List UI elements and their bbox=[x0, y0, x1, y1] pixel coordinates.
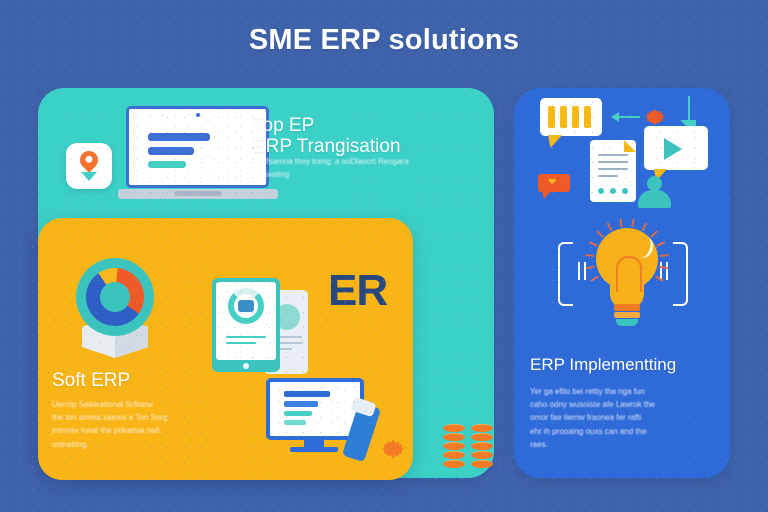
play-icon bbox=[664, 138, 682, 160]
laptop-screen bbox=[126, 106, 269, 188]
speech-bubble-tail bbox=[542, 191, 551, 199]
lightbulb-ray bbox=[589, 241, 598, 247]
lightbulb-base bbox=[614, 304, 640, 311]
er-logo-text: ER bbox=[328, 266, 387, 316]
coin bbox=[443, 424, 465, 432]
heart-icon: ❤ bbox=[548, 178, 556, 188]
document-text-line bbox=[598, 175, 618, 177]
lightbulb-base-tip bbox=[616, 319, 638, 326]
document-text-line bbox=[598, 161, 628, 163]
bracket-pipe bbox=[666, 262, 668, 280]
donut-hole bbox=[100, 282, 130, 312]
laptop-camera-icon bbox=[196, 113, 200, 117]
location-pin-icon bbox=[76, 147, 101, 172]
teal-card-body: Vo ifsamoa they trang: a aoDlavort Reoga… bbox=[253, 155, 453, 181]
coin bbox=[471, 424, 493, 432]
location-pin-hole bbox=[84, 154, 94, 164]
bracket-pipe bbox=[584, 262, 586, 280]
document-dot bbox=[610, 188, 616, 194]
coin bbox=[443, 460, 465, 468]
monitor-usb-gear-icon bbox=[266, 378, 411, 473]
poster-canvas: SME ERP solutions Top EP ERP Trangisatio… bbox=[0, 0, 768, 512]
speech-bubble-tail bbox=[548, 135, 562, 148]
laptop-text-bar bbox=[148, 147, 194, 155]
gear-icon bbox=[378, 434, 408, 464]
lightbulb-ray bbox=[619, 218, 622, 227]
page-title: SME ERP solutions bbox=[0, 24, 768, 57]
lightbulb-filament bbox=[616, 256, 642, 292]
lightbulb-ray bbox=[585, 254, 594, 257]
document-text-line bbox=[598, 168, 628, 170]
chart-bar bbox=[584, 106, 591, 128]
lightbulb-ray bbox=[660, 254, 669, 257]
tablet-device bbox=[212, 278, 280, 372]
laptop-text-bar bbox=[148, 161, 186, 168]
monitor-text-bar bbox=[284, 391, 330, 397]
chart-bar bbox=[560, 106, 567, 128]
tablet-document-icon bbox=[212, 278, 322, 378]
document-text-line bbox=[598, 154, 628, 156]
chart-bar bbox=[572, 106, 579, 128]
blue-card-headline: ERP Implementting bbox=[530, 355, 676, 374]
laptop-trackpad bbox=[174, 191, 222, 196]
coin bbox=[471, 451, 493, 459]
yellow-card-body: Uerrrip Saiterational Srftiane the ton a… bbox=[52, 398, 227, 451]
lightbulb-ray bbox=[650, 230, 658, 238]
lightbulb-ray bbox=[607, 222, 613, 231]
lightbulb-ray bbox=[656, 241, 665, 247]
bracket-right-decoration bbox=[673, 242, 688, 306]
yellow-card-headline: Soft ERP bbox=[52, 370, 130, 391]
blue-card-icon-cluster: ❤ bbox=[520, 92, 726, 212]
document-dot bbox=[622, 188, 628, 194]
bar-chart-speech-bubble-icon bbox=[540, 98, 602, 136]
donut-chart-icon bbox=[70, 258, 160, 363]
laptop-text-bar bbox=[148, 133, 210, 141]
person-icon bbox=[647, 176, 662, 191]
lightbulb-ray bbox=[596, 230, 604, 238]
chart-bar bbox=[548, 106, 555, 128]
coin bbox=[443, 451, 465, 459]
tablet-home-button bbox=[243, 363, 249, 369]
tablet-text-line bbox=[226, 336, 266, 338]
bracket-left-decoration bbox=[558, 242, 573, 306]
document-dot bbox=[598, 188, 604, 194]
monitor-text-bar bbox=[284, 411, 312, 416]
lightbulb-ray bbox=[641, 222, 647, 231]
monitor-text-bar bbox=[284, 420, 306, 425]
bracket-pipe bbox=[578, 262, 580, 280]
tablet-text-line bbox=[226, 342, 256, 344]
arrow-left-icon bbox=[612, 116, 640, 118]
coin bbox=[443, 433, 465, 441]
lightbulb-icon bbox=[548, 218, 698, 343]
checkmark-icon bbox=[81, 172, 97, 181]
blue-card-body: Yer ga efito bei rettiy tha nga fun caho… bbox=[530, 385, 710, 451]
lightbulb-ray bbox=[586, 266, 595, 270]
location-pin-badge[interactable] bbox=[66, 143, 112, 189]
person-body-shape bbox=[638, 190, 671, 208]
coin bbox=[471, 442, 493, 450]
lightbulb-ray bbox=[631, 218, 634, 227]
lightbulb-ray bbox=[590, 276, 599, 282]
hook-line bbox=[688, 96, 690, 122]
coin-stack-icon bbox=[471, 424, 493, 469]
teal-card-headline: Top EP ERP Trangisation bbox=[253, 115, 401, 158]
coin bbox=[471, 460, 493, 468]
coin bbox=[471, 433, 493, 441]
lightbulb-base bbox=[614, 312, 640, 318]
coin-stack-icon bbox=[443, 424, 465, 469]
coin bbox=[443, 442, 465, 450]
monitor-foot bbox=[290, 447, 338, 452]
recycle-center-shape bbox=[238, 300, 254, 312]
monitor-text-bar bbox=[284, 401, 318, 407]
